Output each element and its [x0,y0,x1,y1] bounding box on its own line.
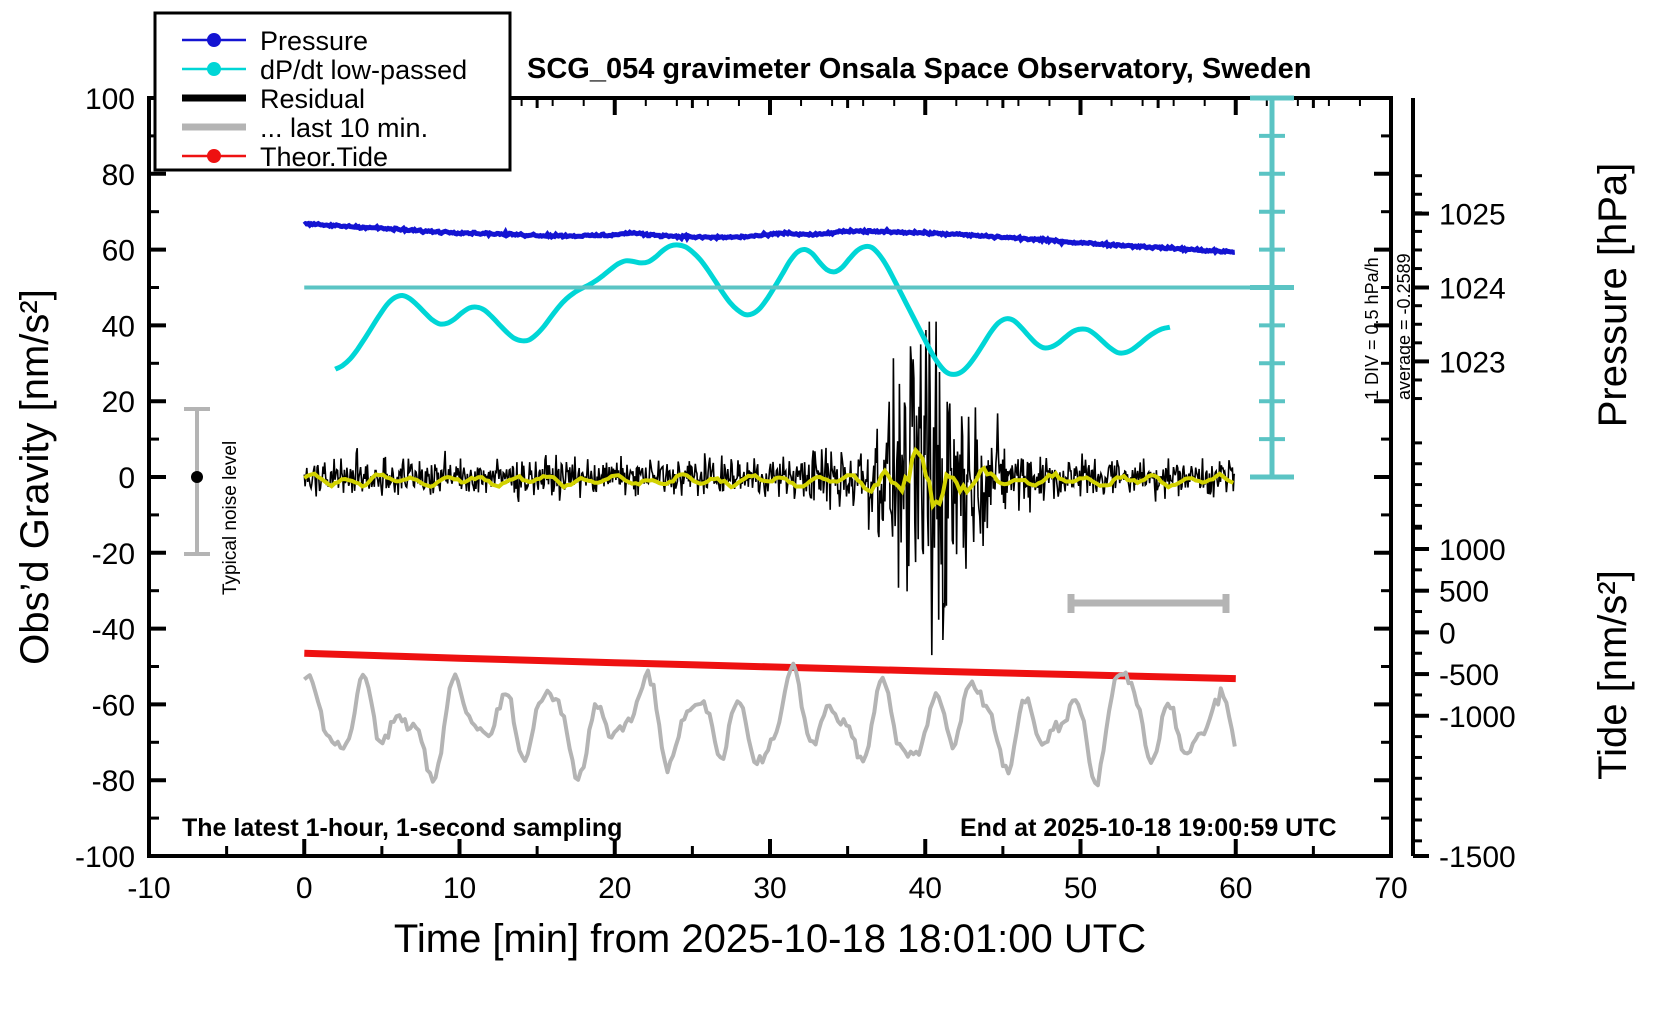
legend[interactable]: PressuredP/dt low-passedResidual... last… [155,13,510,172]
tide-tick-label: -500 [1439,659,1499,692]
y-axis-label-pressure: Pressure [hPa] [1591,163,1635,428]
x-tick-label: 10 [443,872,476,905]
y-tick-label: 60 [102,235,135,268]
pressure-tick-label: 1025 [1439,199,1506,232]
typical-noise-level-label: Typical noise level [220,441,241,595]
pressure-tick-label: 1024 [1439,273,1506,306]
y-tick-label: 0 [118,462,135,495]
chart-title: SCG_054 gravimeter Onsala Space Observat… [527,53,1311,85]
y-tick-label: 80 [102,159,135,192]
x-tick-label: 60 [1219,872,1252,905]
y-tick-label: -60 [92,689,135,722]
dpdt-average-label: average = -0.2589 [1394,253,1414,400]
y-tick-label: -80 [92,765,135,798]
y-tick-label: -20 [92,538,135,571]
legend-label: Residual [260,84,365,114]
legend-label: dP/dt low-passed [260,55,467,85]
y-tick-label: 20 [102,386,135,419]
legend-marker-dot [207,149,221,163]
y-tick-label: 40 [102,310,135,343]
y-axis-label-tide: Tide [nm/s²] [1591,570,1635,780]
tide-tick-label: 0 [1439,617,1456,650]
legend-label: Pressure [260,26,368,56]
tide-tick-label: 1000 [1439,534,1506,567]
x-tick-label: 30 [753,872,786,905]
gravimeter-chart: -100-80-60-40-20020406080100 -1001020304… [0,0,1660,1020]
y-tick-label: 100 [85,83,135,116]
pressure-tick-label: 1023 [1439,346,1506,379]
legend-marker-dot [207,33,221,47]
y-tick-label: -100 [75,841,135,874]
y-tick-label: -40 [92,614,135,647]
tide-tick-label: -1500 [1439,841,1516,874]
chart-page: -100-80-60-40-20020406080100 -1001020304… [0,0,1660,1020]
x-axis-label: Time [min] from 2025-10-18 18:01:00 UTC [394,917,1146,961]
x-tick-label: 70 [1374,872,1407,905]
tide-tick-label: 500 [1439,576,1489,609]
end-time-note: End at 2025-10-18 19:00:59 UTC [960,814,1337,842]
legend-marker-dot [207,62,221,76]
legend-label: Theor.Tide [260,142,388,172]
x-tick-label: 50 [1064,872,1097,905]
sampling-note: The latest 1-hour, 1-second sampling [182,814,622,842]
x-tick-label: 20 [598,872,631,905]
legend-label: ... last 10 min. [260,113,428,143]
x-tick-label: 0 [296,872,313,905]
tide-tick-label: -1000 [1439,701,1516,734]
dpdt-scale-label: 1 DIV = 0.5 hPa/h [1362,257,1382,400]
x-tick-label: -10 [127,872,170,905]
y-axis-label-left: Obs’d Gravity [nm/s²] [13,289,57,665]
x-tick-label: 40 [909,872,942,905]
